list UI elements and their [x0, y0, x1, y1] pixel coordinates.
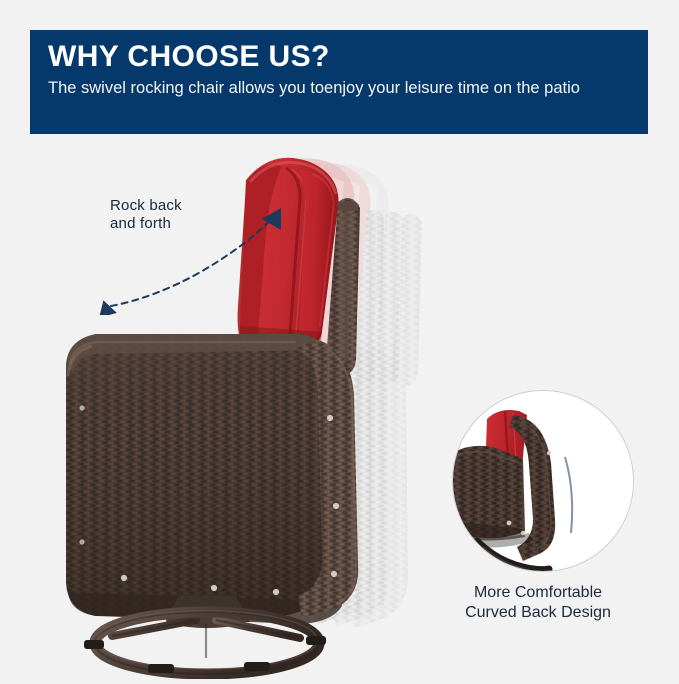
detail-inset-circle [452, 390, 634, 572]
page-title: WHY CHOOSE US? [48, 39, 648, 75]
rock-motion-label-line2: and forth [110, 215, 182, 233]
chair-side-panel [66, 334, 358, 624]
inset-caption-line1: More Comfortable [418, 583, 658, 603]
headline-banner: WHY CHOOSE US? The swivel rocking chair … [30, 30, 648, 134]
inset-caption-line2: Curved Back Design [418, 603, 658, 623]
detail-inset-artwork [453, 391, 633, 571]
rock-motion-label-line1: Rock back [110, 197, 182, 215]
rock-motion-label: Rock back and forth [110, 197, 182, 233]
inset-caption: More Comfortable Curved Back Design [418, 583, 658, 623]
marketing-image-canvas: WHY CHOOSE US? The swivel rocking chair … [0, 0, 679, 679]
banner-subtitle: The swivel rocking chair allows you toen… [48, 78, 640, 98]
